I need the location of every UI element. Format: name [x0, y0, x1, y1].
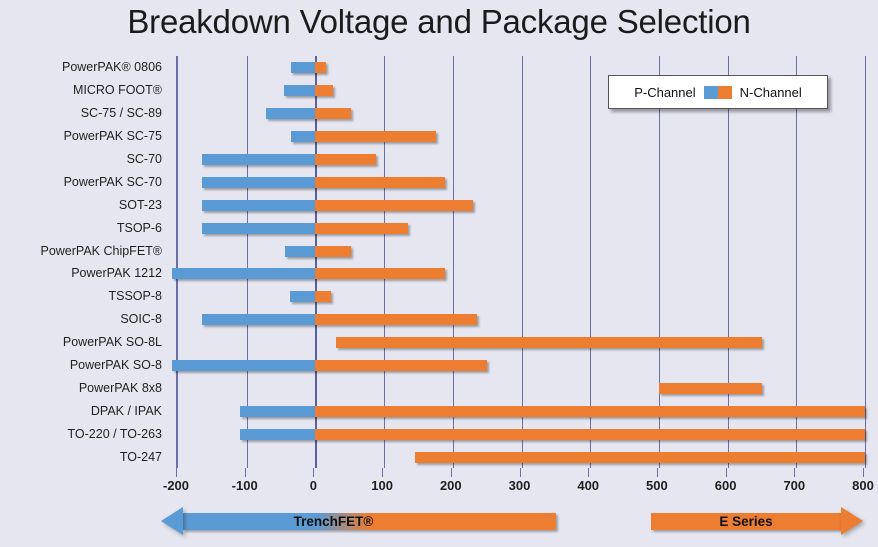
category-label: PowerPAK 8x8: [79, 380, 162, 396]
bar-row: [178, 331, 865, 353]
category-label: DPAK / IPAK: [91, 403, 162, 419]
axis-tick-200: [451, 468, 452, 477]
axis-tick--100: [245, 468, 246, 477]
plot-area: [176, 56, 865, 468]
legend-swatch-n-channel: [718, 86, 732, 99]
bar-p-channel: [202, 314, 315, 325]
bar-p-channel: [291, 131, 315, 142]
category-label: SOT-23: [119, 197, 162, 213]
axis-tick-100: [382, 468, 383, 477]
bar-n-channel: [315, 314, 476, 325]
category-label: SC-70: [127, 151, 162, 167]
bar-row: [178, 171, 865, 193]
bar-n-channel: [315, 246, 351, 257]
legend-label-n-channel: N-Channel: [740, 85, 802, 100]
axis-tick-500: [657, 468, 658, 477]
axis-tick-label: 800: [852, 478, 874, 493]
bar-p-channel: [202, 200, 315, 211]
bar-n-channel: [659, 383, 762, 394]
bar-n-channel: [315, 268, 444, 279]
category-label: TSOP-6: [117, 220, 162, 236]
bar-p-channel: [290, 291, 315, 302]
bar-n-channel: [315, 177, 444, 188]
bar-n-channel: [315, 223, 408, 234]
category-label: PowerPAK 1212: [71, 265, 162, 281]
category-label: TO-247: [120, 449, 162, 465]
axis-tick-0: [313, 468, 314, 477]
bar-row: [178, 446, 865, 468]
value-axis: -200-1000100200300400500600700800: [176, 468, 863, 498]
chart-title: Breakdown Voltage and Package Selection: [0, 0, 878, 46]
bar-p-channel: [266, 108, 315, 119]
bar-row: [178, 125, 865, 147]
axis-tick-label: 200: [440, 478, 462, 493]
bar-p-channel: [172, 268, 316, 279]
technology-arrows: TrenchFET® E Series: [0, 503, 878, 547]
chart-root: Breakdown Voltage and Package Selection …: [0, 0, 878, 547]
axis-tick-800: [863, 468, 864, 477]
arrow-head-left-icon: [161, 507, 183, 535]
category-label: PowerPAK SC-75: [64, 128, 162, 144]
bar-n-channel: [336, 337, 762, 348]
bar-row: [178, 148, 865, 170]
axis-tick-300: [520, 468, 521, 477]
category-label: SOIC-8: [120, 311, 162, 327]
bar-row: [178, 400, 865, 422]
bar-n-channel: [315, 200, 473, 211]
axis-tick-label: 700: [783, 478, 805, 493]
category-label: PowerPAK SO-8L: [63, 334, 162, 350]
bar-row: [178, 423, 865, 445]
axis-tick-label: 400: [577, 478, 599, 493]
bar-n-channel: [315, 360, 487, 371]
gridline-800: [865, 56, 866, 468]
bar-p-channel: [172, 360, 316, 371]
category-axis-labels: PowerPAK® 0806MICRO FOOT®SC-75 / SC-89Po…: [0, 56, 170, 468]
bar-n-channel: [315, 429, 865, 440]
bar-n-channel: [315, 62, 325, 73]
category-label: PowerPAK SC-70: [64, 174, 162, 190]
axis-tick-label: -200: [163, 478, 189, 493]
e-series-arrow-label: E Series: [719, 514, 772, 529]
category-label: TSSOP-8: [109, 288, 163, 304]
bar-row: [178, 308, 865, 330]
axis-tick-label: 500: [646, 478, 668, 493]
axis-tick-label: 0: [310, 478, 317, 493]
category-label: SC-75 / SC-89: [81, 105, 162, 121]
axis-tick-label: 600: [715, 478, 737, 493]
legend-swatches: [704, 86, 732, 99]
bar-n-channel: [315, 154, 375, 165]
axis-tick-600: [726, 468, 727, 477]
bar-row: [178, 194, 865, 216]
axis-tick--200: [176, 468, 177, 477]
bar-row: [178, 262, 865, 284]
bar-n-channel: [315, 291, 330, 302]
bar-row: [178, 354, 865, 376]
axis-tick-400: [588, 468, 589, 477]
bar-p-channel: [202, 177, 315, 188]
category-label: PowerPAK® 0806: [62, 59, 162, 75]
bar-n-channel: [315, 131, 435, 142]
bar-p-channel: [202, 154, 315, 165]
category-label: MICRO FOOT®: [73, 82, 162, 98]
bar-row: [178, 285, 865, 307]
bar-n-channel: [315, 85, 332, 96]
bar-p-channel: [291, 62, 315, 73]
axis-tick-label: 100: [371, 478, 393, 493]
category-label: PowerPAK SO-8: [70, 357, 162, 373]
axis-tick-label: -100: [232, 478, 258, 493]
category-label: TO-220 / TO-263: [68, 426, 163, 442]
e-series-arrow-body: E Series: [651, 513, 841, 530]
bar-n-channel: [415, 452, 865, 463]
bar-p-channel: [284, 85, 315, 96]
bar-row: [178, 240, 865, 262]
trenchfet-arrow-label: TrenchFET®: [294, 514, 374, 529]
axis-tick-label: 300: [509, 478, 531, 493]
legend-label-p-channel: P-Channel: [634, 85, 695, 100]
bar-p-channel: [202, 223, 315, 234]
trenchfet-arrow: TrenchFET®: [161, 507, 556, 535]
bar-row: [178, 217, 865, 239]
trenchfet-arrow-body: TrenchFET®: [183, 513, 556, 530]
bar-p-channel: [240, 429, 316, 440]
e-series-arrow: E Series: [651, 507, 863, 535]
arrow-head-right-icon: [841, 507, 863, 535]
legend-swatch-p-channel: [704, 86, 718, 99]
bar-p-channel: [285, 246, 315, 257]
bar-p-channel: [240, 406, 316, 417]
bar-n-channel: [315, 406, 865, 417]
category-label: PowerPAK ChipFET®: [40, 243, 162, 259]
legend: P-Channel N-Channel: [608, 75, 828, 109]
bar-n-channel: [315, 108, 351, 119]
bar-row: [178, 377, 865, 399]
axis-tick-700: [794, 468, 795, 477]
